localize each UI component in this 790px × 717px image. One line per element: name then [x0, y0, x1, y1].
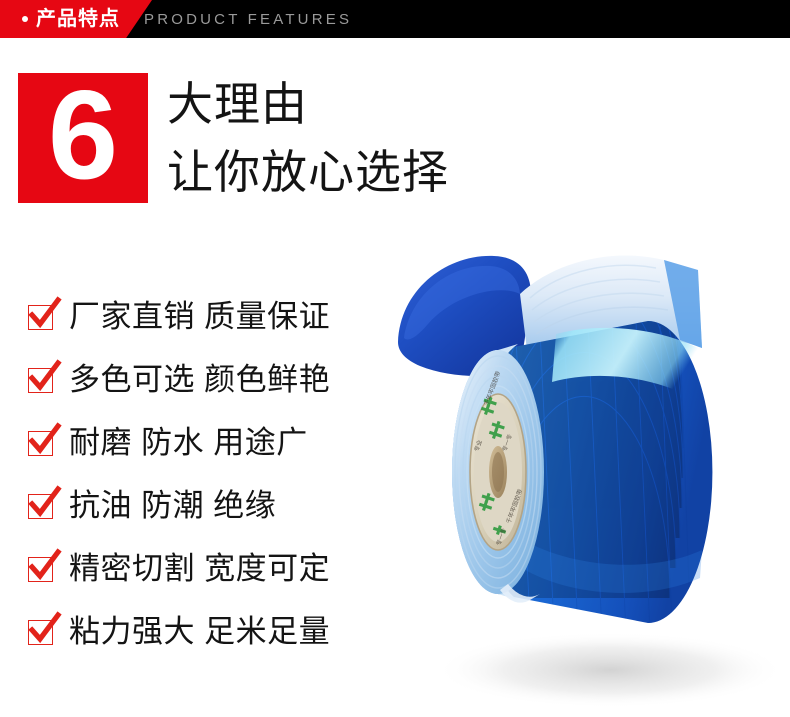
checkbox-checked-icon	[28, 620, 58, 650]
section-header-bar: 产品特点 PRODUCT FEATURES	[0, 0, 790, 38]
checkbox-checked-icon	[28, 368, 58, 398]
product-feature-banner: 产品特点 PRODUCT FEATURES 6 大理由 让你放心选择 厂家直销 …	[0, 0, 790, 717]
checkbox-checked-icon	[28, 557, 58, 587]
headline-line-2: 让你放心选择	[167, 146, 449, 198]
feature-label: 抗油 防潮 绝缘	[69, 488, 276, 524]
feature-item: 粘力强大 足米足量	[28, 614, 330, 677]
product-shadow	[435, 632, 785, 708]
feature-item: 精密切割 宽度可定	[28, 551, 330, 614]
checkbox-checked-icon	[28, 494, 58, 524]
feature-label: 精密切割 宽度可定	[69, 551, 330, 587]
bullet-dot-icon	[22, 16, 28, 22]
header-title-en: PRODUCT FEATURES	[144, 11, 352, 29]
checkbox-checked-icon	[28, 431, 58, 461]
feature-item: 多色可选 颜色鲜艳	[28, 362, 330, 425]
headline-number: 6	[18, 72, 148, 198]
feature-item: 耐磨 防水 用途广	[28, 425, 330, 488]
feature-label: 厂家直销 质量保证	[69, 299, 330, 335]
header-title-cn: 产品特点	[36, 7, 120, 31]
feature-label: 多色可选 颜色鲜艳	[69, 362, 330, 398]
headline-number-badge: 6	[18, 73, 148, 203]
feature-label: 粘力强大 足米足量	[69, 614, 330, 650]
checkbox-checked-icon	[28, 305, 58, 335]
feature-item: 厂家直销 质量保证	[28, 299, 330, 362]
feature-item: 抗油 防潮 绝缘	[28, 488, 330, 551]
feature-list: 厂家直销 质量保证 多色可选 颜色鲜艳 耐磨 防水 用途广	[28, 299, 330, 677]
feature-label: 耐磨 防水 用途广	[69, 425, 308, 461]
product-image-tape-roll: 千年牢固胶带 专一专 专业 千年牢固胶带 专一专	[380, 238, 790, 708]
headline-line-1: 大理由	[167, 78, 308, 130]
